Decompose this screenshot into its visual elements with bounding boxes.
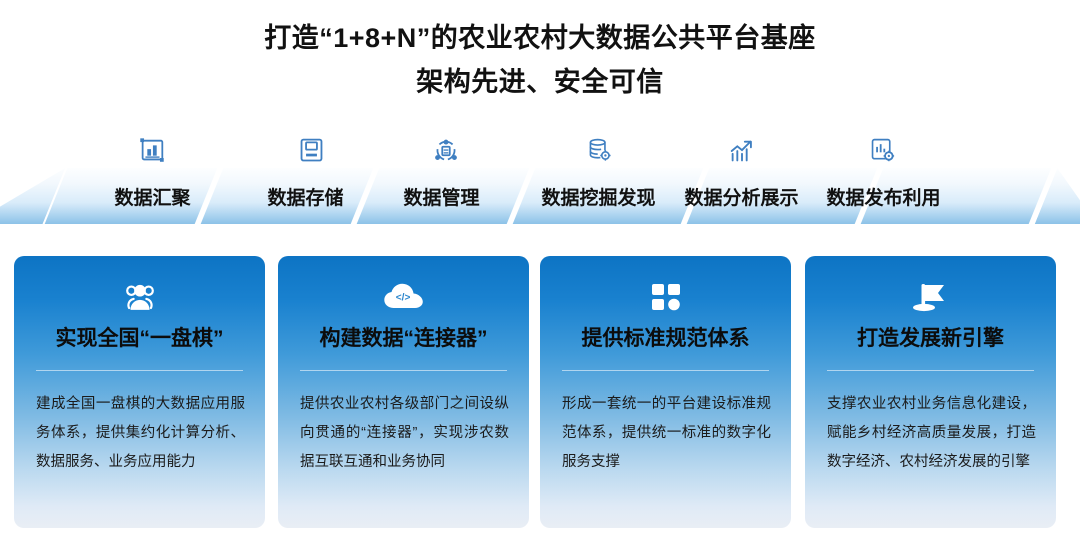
flag-icon bbox=[805, 280, 1056, 320]
feature-card-1[interactable]: 实现全国“一盘棋” 建成全国一盘棋的大数据应用服务体系，提供集约化计算分析、数据… bbox=[14, 256, 265, 528]
cloud-code-icon: </> bbox=[278, 280, 529, 320]
feature-card-3-body: 形成一套统一的平台建设标准规范体系，提供统一标准的数字化服务支撑 bbox=[562, 390, 771, 477]
bar-chart-frame-icon bbox=[132, 136, 172, 170]
feature-card-2-divider bbox=[300, 370, 507, 371]
ribbon-label-2[interactable]: 数据存储 bbox=[248, 183, 363, 210]
feature-card-1-divider bbox=[36, 370, 243, 371]
ribbon-label-1[interactable]: 数据汇聚 bbox=[95, 183, 210, 210]
ribbon-label-6[interactable]: 数据发布利用 bbox=[812, 183, 955, 210]
ribbon-label-3[interactable]: 数据管理 bbox=[384, 183, 499, 210]
database-gear-icon bbox=[579, 136, 619, 170]
svg-text:</>: </> bbox=[395, 293, 410, 304]
ribbon-label-4[interactable]: 数据挖掘发现 bbox=[527, 183, 670, 210]
feature-card-1-title: 实现全国“一盘棋” bbox=[14, 322, 265, 352]
feature-card-grid: 实现全国“一盘棋” 建成全国一盘棋的大数据应用服务体系，提供集约化计算分析、数据… bbox=[0, 256, 1080, 541]
network-nodes-icon bbox=[426, 136, 466, 170]
feature-card-1-body: 建成全国一盘棋的大数据应用服务体系，提供集约化计算分析、数据服务、业务应用能力 bbox=[36, 390, 245, 477]
floppy-disk-icon bbox=[291, 136, 331, 170]
page-title-line-2: 架构先进、安全可信 bbox=[0, 60, 1080, 104]
grid-blocks-icon bbox=[540, 280, 791, 320]
feature-card-3-title: 提供标准规范体系 bbox=[540, 322, 791, 352]
feature-card-3[interactable]: 提供标准规范体系 形成一套统一的平台建设标准规范体系，提供统一标准的数字化服务支… bbox=[540, 256, 791, 528]
feature-card-4-title: 打造发展新引擎 bbox=[805, 322, 1056, 352]
report-gear-icon bbox=[862, 136, 902, 170]
page-title-line-1: 打造“1+8+N”的农业农村大数据公共平台基座 bbox=[0, 16, 1080, 60]
page-title: 打造“1+8+N”的农业农村大数据公共平台基座 架构先进、安全可信 bbox=[0, 16, 1080, 104]
feature-card-3-divider bbox=[562, 370, 769, 371]
feature-card-2-body: 提供农业农村各级部门之间设纵向贯通的“连接器”，实现涉农数据互联互通和业务协同 bbox=[300, 390, 509, 477]
ribbon-label-5[interactable]: 数据分析展示 bbox=[670, 183, 813, 210]
feature-card-4[interactable]: 打造发展新引擎 支撑农业农村业务信息化建设，赋能乡村经济高质量发展，打造数字经济… bbox=[805, 256, 1056, 528]
trending-up-bars-icon bbox=[722, 136, 762, 170]
users-group-icon bbox=[14, 280, 265, 320]
feature-card-4-body: 支撑农业农村业务信息化建设，赋能乡村经济高质量发展，打造数字经济、农村经济发展的… bbox=[827, 390, 1036, 477]
feature-card-2[interactable]: </> 构建数据“连接器” 提供农业农村各级部门之间设纵向贯通的“连接器”，实现… bbox=[278, 256, 529, 528]
feature-card-4-divider bbox=[827, 370, 1034, 371]
feature-card-2-title: 构建数据“连接器” bbox=[278, 322, 529, 352]
